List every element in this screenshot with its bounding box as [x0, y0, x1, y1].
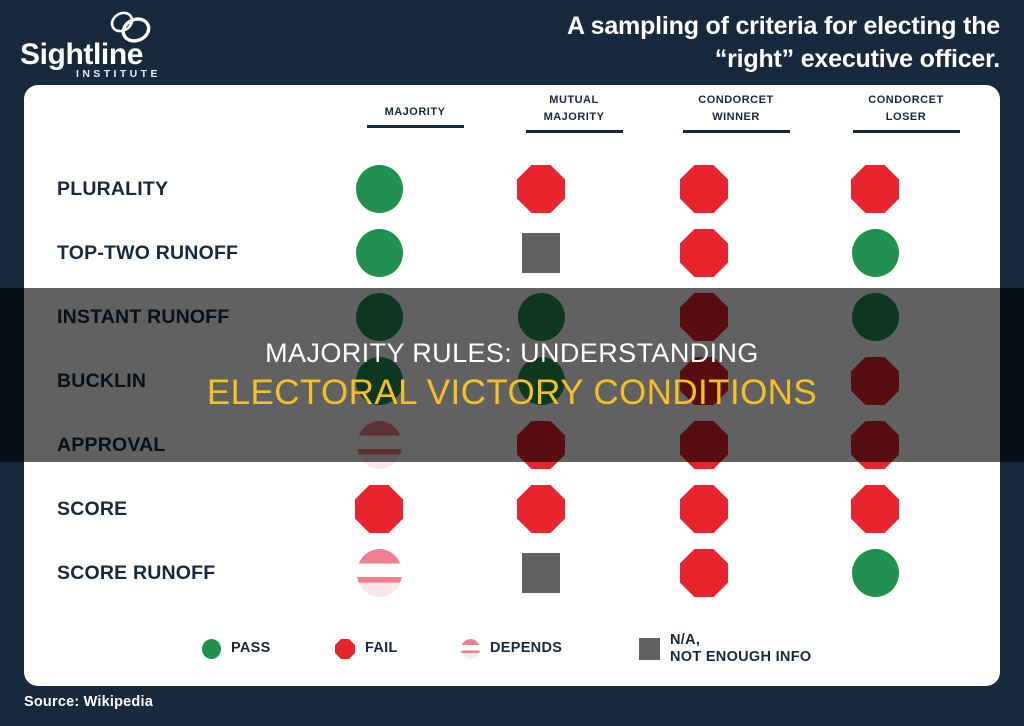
pass-circle-icon	[852, 549, 899, 597]
criteria-cell	[672, 221, 736, 285]
row-label: PLURALITY	[57, 157, 168, 221]
fail-octagon-icon	[851, 165, 899, 213]
criteria-cell	[347, 541, 411, 605]
column-header-label: Condorcet Winner	[651, 91, 821, 125]
legend-label: N/A, NOT ENOUGH INFO	[670, 632, 811, 666]
legend: PASS FAIL DEPENDS N/A, NOT ENOUGH INFO	[24, 612, 1000, 686]
column-header-label: Majority	[330, 103, 500, 120]
fail-octagon-icon	[680, 165, 728, 213]
fail-octagon-icon	[335, 639, 355, 659]
column-header-rule	[526, 130, 623, 133]
na-square-icon	[522, 553, 560, 593]
criteria-cell	[843, 541, 907, 605]
brand-subtitle: INSTITUTE	[76, 68, 161, 80]
column-header-condorcet-loser: Condorcet Loser	[821, 91, 991, 133]
row-label: SCORE	[57, 477, 127, 541]
column-header-label: Mutual Majority	[489, 91, 659, 125]
column-header-rule	[853, 130, 960, 133]
column-header-majority: Majority	[330, 103, 500, 128]
pass-circle-icon	[356, 165, 403, 213]
table-row: SCORE	[24, 477, 1000, 541]
criteria-cell	[672, 541, 736, 605]
fail-octagon-icon	[517, 165, 565, 213]
criteria-cell	[347, 477, 411, 541]
fail-octagon-icon	[680, 485, 728, 533]
column-header-rule	[683, 130, 790, 133]
fail-octagon-icon	[680, 229, 728, 277]
pass-circle-icon	[356, 229, 403, 277]
table-row: PLURALITY	[24, 157, 1000, 221]
legend-label: FAIL	[365, 640, 398, 657]
legend-label: PASS	[231, 640, 271, 657]
table-column-headers: Majority Mutual Majority Condorcet Winne…	[24, 85, 1000, 157]
criteria-cell	[843, 157, 907, 221]
sightline-logo: Sightline INSTITUTE	[20, 8, 210, 78]
na-square-icon	[639, 638, 660, 660]
legend-item-pass: PASS	[202, 612, 271, 686]
criteria-cell	[843, 221, 907, 285]
legend-label: DEPENDS	[490, 640, 562, 657]
table-row: SCORE RUNOFF	[24, 541, 1000, 605]
pass-circle-icon	[202, 639, 221, 659]
criteria-cell	[509, 541, 573, 605]
table-row: TOP-TWO RUNOFF	[24, 221, 1000, 285]
criteria-cell	[347, 221, 411, 285]
fail-octagon-icon	[680, 549, 728, 597]
fail-octagon-icon	[517, 485, 565, 533]
criteria-cell	[672, 157, 736, 221]
legend-item-depends: DEPENDS	[461, 612, 562, 686]
row-label: TOP-TWO RUNOFF	[57, 221, 238, 285]
criteria-cell	[347, 157, 411, 221]
criteria-cell	[509, 477, 573, 541]
source-caption: Source: Wikipedia	[24, 694, 153, 710]
depends-striped-circle-icon	[461, 639, 480, 659]
legend-item-na: N/A, NOT ENOUGH INFO	[639, 612, 811, 686]
criteria-cell	[509, 221, 573, 285]
criteria-cell	[509, 157, 573, 221]
fail-octagon-icon	[851, 485, 899, 533]
depends-striped-circle-icon	[357, 549, 402, 597]
page-title: A sampling of criteria for electing the …	[380, 10, 1000, 76]
pass-circle-icon	[852, 229, 899, 277]
row-label: SCORE RUNOFF	[57, 541, 215, 605]
column-header-label: Condorcet Loser	[821, 91, 991, 125]
column-header-mutual-majority: Mutual Majority	[489, 91, 659, 133]
legend-item-fail: FAIL	[335, 612, 398, 686]
overlay-line-1: MAJORITY RULES: UNDERSTANDING	[265, 338, 759, 369]
page-header: Sightline INSTITUTE A sampling of criter…	[0, 0, 1024, 85]
criteria-cell	[843, 477, 907, 541]
overlay-line-2: ELECTORAL VICTORY CONDITIONS	[207, 373, 817, 413]
brand-name: Sightline	[20, 38, 143, 72]
column-header-condorcet-winner: Condorcet Winner	[651, 91, 821, 133]
title-overlay-banner: MAJORITY RULES: UNDERSTANDING ELECTORAL …	[0, 288, 1024, 462]
column-header-rule	[367, 125, 464, 128]
criteria-cell	[672, 477, 736, 541]
na-square-icon	[522, 233, 560, 273]
fail-octagon-icon	[355, 485, 403, 533]
